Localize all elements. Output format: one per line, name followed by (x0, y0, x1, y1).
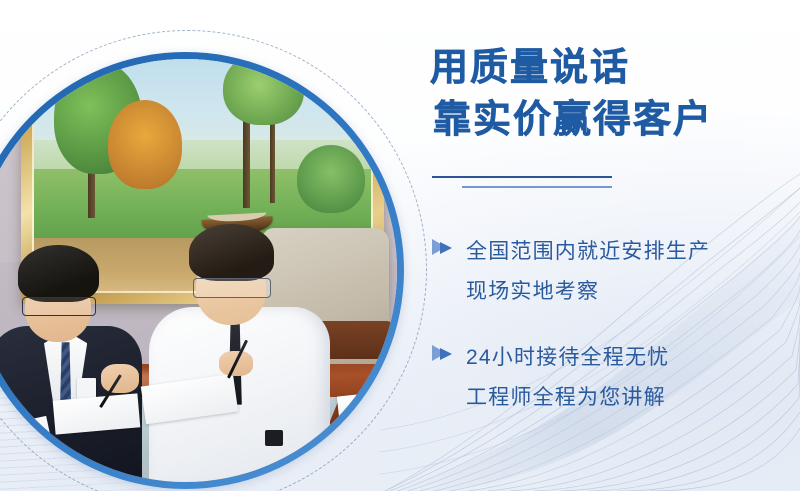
list-item-text: 全国范围内就近安排生产 现场实地考察 (466, 232, 800, 312)
meeting-photo (0, 59, 397, 482)
page-title: 用质量说话 靠实价赢得客户 (430, 44, 713, 144)
text-panel: 用质量说话 靠实价赢得客户 全国范围内就近安排生产 现场实地考察 (400, 0, 800, 491)
headline-line-2: 靠实价赢得客户 (433, 96, 713, 144)
list-item-text: 24小时接待全程无忧 工程师全程为您讲解 (466, 338, 800, 418)
list-item-line: 现场实地考察 (466, 272, 800, 312)
headline-line-1: 用质量说话 (430, 47, 630, 89)
arrow-right-icon (432, 344, 454, 364)
list-item-line: 全国范围内就近安排生产 (466, 232, 800, 272)
list-item: 24小时接待全程无忧 工程师全程为您讲解 (428, 338, 800, 418)
divider-primary (432, 176, 612, 178)
list-item: 全国范围内就近安排生产 现场实地考察 (428, 232, 800, 312)
list-item-line: 工程师全程为您讲解 (466, 378, 800, 418)
promo-banner: 用质量说话 靠实价赢得客户 全国范围内就近安排生产 现场实地考察 (0, 0, 800, 491)
feature-list: 全国范围内就近安排生产 现场实地考察 24小时接待全程无忧 工程师全程为您讲解 (428, 232, 800, 444)
hand-left (101, 364, 139, 394)
divider-secondary (462, 186, 612, 188)
arrow-right-icon (432, 238, 454, 258)
photo-circle (0, 59, 397, 482)
list-item-line: 24小时接待全程无忧 (466, 338, 800, 378)
